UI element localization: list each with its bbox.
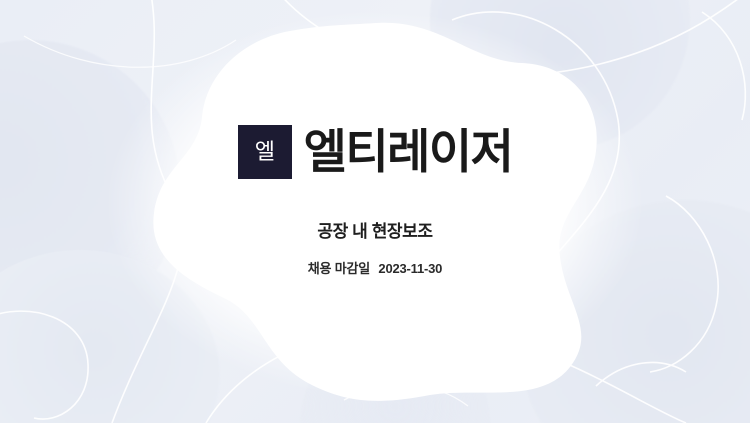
company-logo-badge-text: 엘 bbox=[255, 141, 275, 163]
deadline-label: 채용 마감일 bbox=[308, 261, 370, 276]
deadline-date: 2023-11-30 bbox=[378, 261, 442, 276]
application-deadline: 채용 마감일 2023-11-30 bbox=[308, 258, 442, 277]
job-title: 공장 내 현장보조 bbox=[317, 217, 432, 242]
poster-content: 엘 엘티레이저 공장 내 현장보조 채용 마감일 2023-11-30 bbox=[0, 0, 750, 423]
company-name-wordmark: 엘티레이저 bbox=[304, 128, 513, 175]
job-posting-poster: 엘 엘티레이저 공장 내 현장보조 채용 마감일 2023-11-30 bbox=[0, 0, 750, 423]
company-logo-badge: 엘 bbox=[238, 125, 292, 179]
company-logo-row: 엘 엘티레이저 bbox=[238, 125, 513, 179]
